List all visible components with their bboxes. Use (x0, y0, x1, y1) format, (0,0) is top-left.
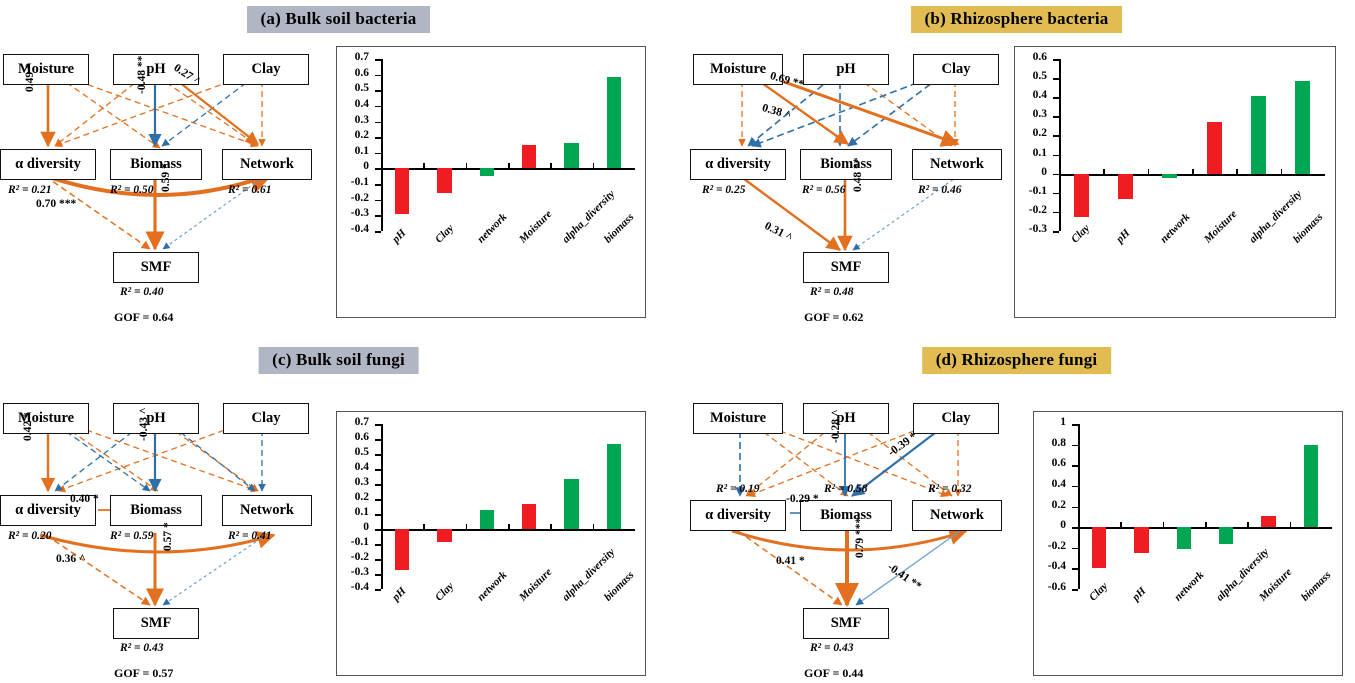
path-label-ph-biomass: -0.28 ^ (830, 409, 842, 443)
y-axis-tick: -0.2 (1034, 540, 1066, 552)
y-axis-tick: 0.4 (1034, 478, 1066, 490)
y-axis-tick-mark (1053, 231, 1059, 233)
bar (564, 479, 578, 529)
x-axis-tick-mark (508, 163, 510, 168)
x-axis-tick-mark (1103, 169, 1105, 174)
y-axis-tick: 0.3 (337, 476, 369, 488)
node-clay: Clay (223, 403, 309, 434)
r2-biomass: R² = 0.58 (824, 483, 868, 495)
panel-d-title: (d) Rhizosphere fungi (922, 347, 1112, 374)
bar (395, 168, 409, 213)
panel-a-title: (a) Bulk soil bacteria (247, 6, 431, 33)
node-ph: pH (803, 54, 889, 85)
path-label-moisture-alpha: 0.49 * (24, 63, 36, 92)
y-axis-tick: 0 (1034, 519, 1066, 531)
y-axis-tick: 0.5 (337, 446, 369, 458)
path-label-alpha-biomass: 0.40 * (70, 493, 99, 505)
x-axis-label: Moisture (517, 208, 554, 245)
node-moisture: Moisture (3, 403, 89, 434)
panel-b-title: (b) Rhizosphere bacteria (911, 6, 1123, 33)
bar (1251, 96, 1266, 173)
node-ph: pH (803, 403, 889, 434)
y-axis-tick: -0.6 (1034, 581, 1066, 593)
y-axis-tick: -0.2 (337, 551, 369, 563)
x-axis-tick-mark (1281, 169, 1283, 174)
x-axis-tick-mark (1192, 169, 1194, 174)
x-axis-tick-mark (423, 524, 425, 529)
bar (1074, 174, 1089, 217)
panel-c-title: (c) Bulk soil fungi (258, 347, 419, 374)
node-smf: SMF (803, 608, 889, 639)
y-axis-tick: 0 (1015, 166, 1047, 178)
r2-network: R² = 0.41 (228, 530, 272, 542)
panel-d: (d) Rhizosphere fungi (678, 341, 1355, 682)
x-axis-tick-mark (1236, 169, 1238, 174)
x-axis-line (381, 529, 635, 531)
y-axis-tick: 0.6 (337, 431, 369, 443)
node-network: Network (222, 149, 312, 180)
node-smf: SMF (803, 252, 889, 283)
x-axis-label: pH (1114, 227, 1132, 245)
y-axis-tick: 0.3 (1015, 108, 1047, 120)
bar (1304, 445, 1318, 527)
y-axis-tick: 0.6 (1015, 51, 1047, 63)
r2-alpha-diversity: R² = 0.25 (702, 184, 746, 196)
y-axis-tick: -0.1 (337, 536, 369, 548)
node-ph: pH (113, 403, 199, 434)
r2-biomass: R² = 0.50 (110, 184, 154, 196)
bar (607, 444, 621, 529)
y-axis-tick: -0.3 (337, 566, 369, 578)
y-axis-tick: 0.7 (337, 416, 369, 428)
r2-network: R² = 0.32 (928, 483, 972, 495)
panel-a-bar-chart: 0.70.60.50.40.30.20.10-0.1-0.2-0.3-0.4pH… (336, 46, 646, 318)
node-network: Network (912, 500, 1002, 531)
x-axis-label: biomass (1291, 211, 1325, 245)
x-axis-tick-mark (466, 163, 468, 168)
r2-alpha-diversity: R² = 0.20 (8, 530, 52, 542)
x-axis-label: biomass (1299, 569, 1333, 603)
path-label-ph-biomass: -0.48 ** (136, 56, 148, 94)
gof-value: GOF = 0.44 (804, 666, 863, 681)
x-axis-tick-mark (550, 163, 552, 168)
r2-smf: R² = 0.48 (810, 286, 854, 298)
r2-network: R² = 0.46 (918, 184, 962, 196)
x-axis-line (381, 168, 635, 170)
bar (1177, 527, 1191, 549)
node-smf: SMF (113, 252, 199, 283)
x-axis-tick-mark (593, 163, 595, 168)
bar (1162, 174, 1177, 179)
y-axis-tick: 0.1 (337, 506, 369, 518)
y-axis-tick: -0.2 (337, 192, 369, 204)
x-axis-tick-mark (423, 163, 425, 168)
node-alpha-diversity: α diversity (690, 149, 786, 180)
y-axis-tick: -0.2 (1015, 204, 1047, 216)
x-axis-label: pH (390, 585, 408, 603)
node-clay: Clay (913, 54, 999, 85)
y-axis-tick: -0.4 (337, 223, 369, 235)
node-clay: Clay (223, 54, 309, 85)
x-axis-label: Clay (433, 580, 456, 603)
bar (437, 529, 451, 542)
x-axis-tick-mark (1205, 522, 1207, 527)
panel-b-bar-chart: 0.60.50.40.30.20.10-0.1-0.2-0.3ClaypHnet… (1014, 46, 1336, 318)
y-axis-tick: 0.1 (337, 145, 369, 157)
node-alpha-diversity: α diversity (690, 500, 786, 531)
x-axis-label: Clay (1069, 222, 1092, 245)
y-axis-tick: 0 (337, 521, 369, 533)
x-axis-label: biomass (602, 211, 636, 245)
y-axis-tick: 0.7 (337, 51, 369, 63)
bar (1295, 81, 1310, 174)
panel-c: (c) Bulk soil fungi (0, 341, 677, 682)
r2-smf: R² = 0.40 (120, 286, 164, 298)
bar (522, 145, 536, 168)
node-moisture: Moisture (3, 54, 89, 85)
y-axis-tick: 0.2 (337, 491, 369, 503)
y-axis-tick: -0.1 (337, 176, 369, 188)
r2-alpha-diversity: R² = 0.21 (8, 184, 52, 196)
bar (1261, 516, 1275, 527)
x-axis-label: biomass (602, 569, 636, 603)
x-axis-label: Moisture (1202, 208, 1239, 245)
r2-network: R² = 0.61 (228, 184, 272, 196)
bar (564, 143, 578, 169)
x-axis-tick-mark (1163, 522, 1165, 527)
y-axis-tick: 0.6 (1034, 457, 1066, 469)
path-label-biomass-smf: 0.57 * (162, 522, 174, 551)
x-axis-line (1078, 527, 1332, 529)
x-axis-label: Moisture (1257, 566, 1294, 603)
r2-smf: R² = 0.43 (810, 642, 854, 654)
x-axis-tick-mark (508, 524, 510, 529)
y-axis-tick: -0.4 (1034, 560, 1066, 572)
y-axis-tick: -0.3 (337, 207, 369, 219)
y-axis-line (381, 424, 383, 589)
y-axis-tick: -0.1 (1015, 185, 1047, 197)
y-axis-tick: 0.5 (1015, 70, 1047, 82)
gof-value: GOF = 0.62 (804, 310, 863, 325)
panel-b: (b) Rhizosphere bacteria (678, 0, 1355, 341)
y-axis-tick: 0.3 (337, 114, 369, 126)
y-axis-tick-mark (375, 231, 381, 233)
y-axis-tick: -0.4 (337, 581, 369, 593)
bar (1219, 527, 1233, 544)
panel-b-sem-diagram: Moisture pH Clay α diversity Biomass Net… (690, 34, 1020, 334)
y-axis-tick: 0.8 (1034, 437, 1066, 449)
x-axis-tick-mark (593, 524, 595, 529)
node-smf: SMF (113, 608, 199, 639)
node-biomass: Biomass (110, 149, 202, 180)
y-axis-tick: 0 (337, 160, 369, 172)
panel-c-sem-diagram: Moisture pH Clay α diversity Biomass Net… (0, 383, 330, 683)
y-axis-tick: 0.6 (337, 67, 369, 79)
panel-a-sem-diagram: Moisture pH Clay α diversity Biomass Net… (0, 34, 330, 334)
panel-b-chart-plot: 0.60.50.40.30.20.10-0.1-0.2-0.3ClaypHnet… (1015, 47, 1335, 317)
node-biomass: Biomass (800, 149, 892, 180)
gof-value: GOF = 0.57 (114, 666, 173, 681)
y-axis-tick: 0.2 (337, 129, 369, 141)
x-axis-label: network (475, 211, 509, 245)
path-label-biomass-smf: 0.48 ** (852, 158, 864, 193)
path-label-alpha-smf: 0.41 * (776, 555, 805, 567)
bar (395, 529, 409, 570)
y-axis-tick: 0.4 (1015, 89, 1047, 101)
bar (1207, 122, 1222, 174)
path-label-biomass-smf: 0.59 * (160, 163, 172, 192)
path-label-alpha-smf: 0.36 ^ (56, 553, 86, 565)
r2-alpha-diversity: R² = 0.19 (716, 483, 760, 495)
y-axis-tick: 0.4 (337, 461, 369, 473)
x-axis-tick-mark (381, 163, 383, 168)
y-axis-tick: 0.2 (1034, 499, 1066, 511)
path-label-moisture-alpha: 0.42 * (22, 412, 34, 441)
x-axis-label: pH (390, 227, 408, 245)
y-axis-tick: 1 (1034, 416, 1066, 428)
x-axis-tick-mark (550, 524, 552, 529)
panel-a: (a) Bulk soil bacteria (0, 0, 677, 341)
path-label-biomass-smf: 0.79 *** (854, 518, 866, 558)
r2-biomass: R² = 0.56 (802, 184, 846, 196)
path-label-ph-biomass: -0.43 ^ (138, 407, 150, 441)
y-axis-tick-mark (1072, 589, 1078, 591)
node-biomass: Biomass (110, 495, 202, 526)
figure-sem-panels: (a) Bulk soil bacteria (0, 0, 1355, 682)
bar (607, 77, 621, 168)
bar (437, 168, 451, 192)
x-axis-tick-mark (1059, 169, 1061, 174)
x-axis-tick-mark (1247, 522, 1249, 527)
panel-c-chart-plot: 0.70.60.50.40.30.20.10-0.1-0.2-0.3-0.4pH… (337, 412, 645, 675)
x-axis-tick-mark (1120, 522, 1122, 527)
node-clay: Clay (913, 403, 999, 434)
x-axis-label: Moisture (517, 566, 554, 603)
bar (1134, 527, 1148, 553)
panel-a-chart-plot: 0.70.60.50.40.30.20.10-0.1-0.2-0.3-0.4pH… (337, 47, 645, 317)
y-axis-tick: -0.3 (1015, 223, 1047, 235)
r2-smf: R² = 0.43 (120, 642, 164, 654)
y-axis-tick: 0.2 (1015, 127, 1047, 139)
bar (522, 504, 536, 530)
x-axis-label: network (1172, 569, 1206, 603)
bar (1118, 174, 1133, 199)
gof-value: GOF = 0.64 (114, 310, 173, 325)
x-axis-label: Clay (433, 222, 456, 245)
node-network: Network (222, 495, 312, 526)
y-axis-tick: 0.1 (1015, 147, 1047, 159)
node-moisture: Moisture (693, 403, 783, 434)
bar (480, 510, 494, 529)
node-alpha-diversity: α diversity (0, 149, 96, 180)
x-axis-tick-mark (1148, 169, 1150, 174)
y-axis-tick: 0.4 (337, 98, 369, 110)
y-axis-line (1059, 59, 1061, 231)
x-axis-label: network (1158, 211, 1192, 245)
r2-biomass: R² = 0.59 (110, 530, 154, 542)
y-axis-line (1078, 424, 1080, 589)
x-axis-label: Clay (1087, 580, 1110, 603)
bar (480, 168, 494, 176)
path-label-alpha-smf: 0.70 *** (36, 198, 76, 210)
x-axis-tick-mark (1290, 522, 1292, 527)
x-axis-label: pH (1130, 585, 1148, 603)
panel-d-sem-diagram: Moisture pH Clay α diversity Biomass Net… (690, 383, 1020, 683)
panel-d-bar-chart: 10.80.60.40.20-0.2-0.4-0.6ClaypHnetworka… (1033, 411, 1343, 676)
x-axis-tick-mark (1078, 522, 1080, 527)
x-axis-tick-mark (466, 524, 468, 529)
node-network: Network (912, 149, 1002, 180)
x-axis-tick-mark (381, 524, 383, 529)
path-label-alpha-biomass: -0.29 * (786, 493, 819, 505)
y-axis-line (381, 59, 383, 231)
y-axis-tick-mark (375, 589, 381, 591)
x-axis-label: network (475, 569, 509, 603)
y-axis-tick: 0.5 (337, 82, 369, 94)
bar (1092, 527, 1106, 568)
x-axis-line (1059, 174, 1325, 176)
panel-d-chart-plot: 10.80.60.40.20-0.2-0.4-0.6ClaypHnetworka… (1034, 412, 1342, 675)
panel-c-bar-chart: 0.70.60.50.40.30.20.10-0.1-0.2-0.3-0.4pH… (336, 411, 646, 676)
